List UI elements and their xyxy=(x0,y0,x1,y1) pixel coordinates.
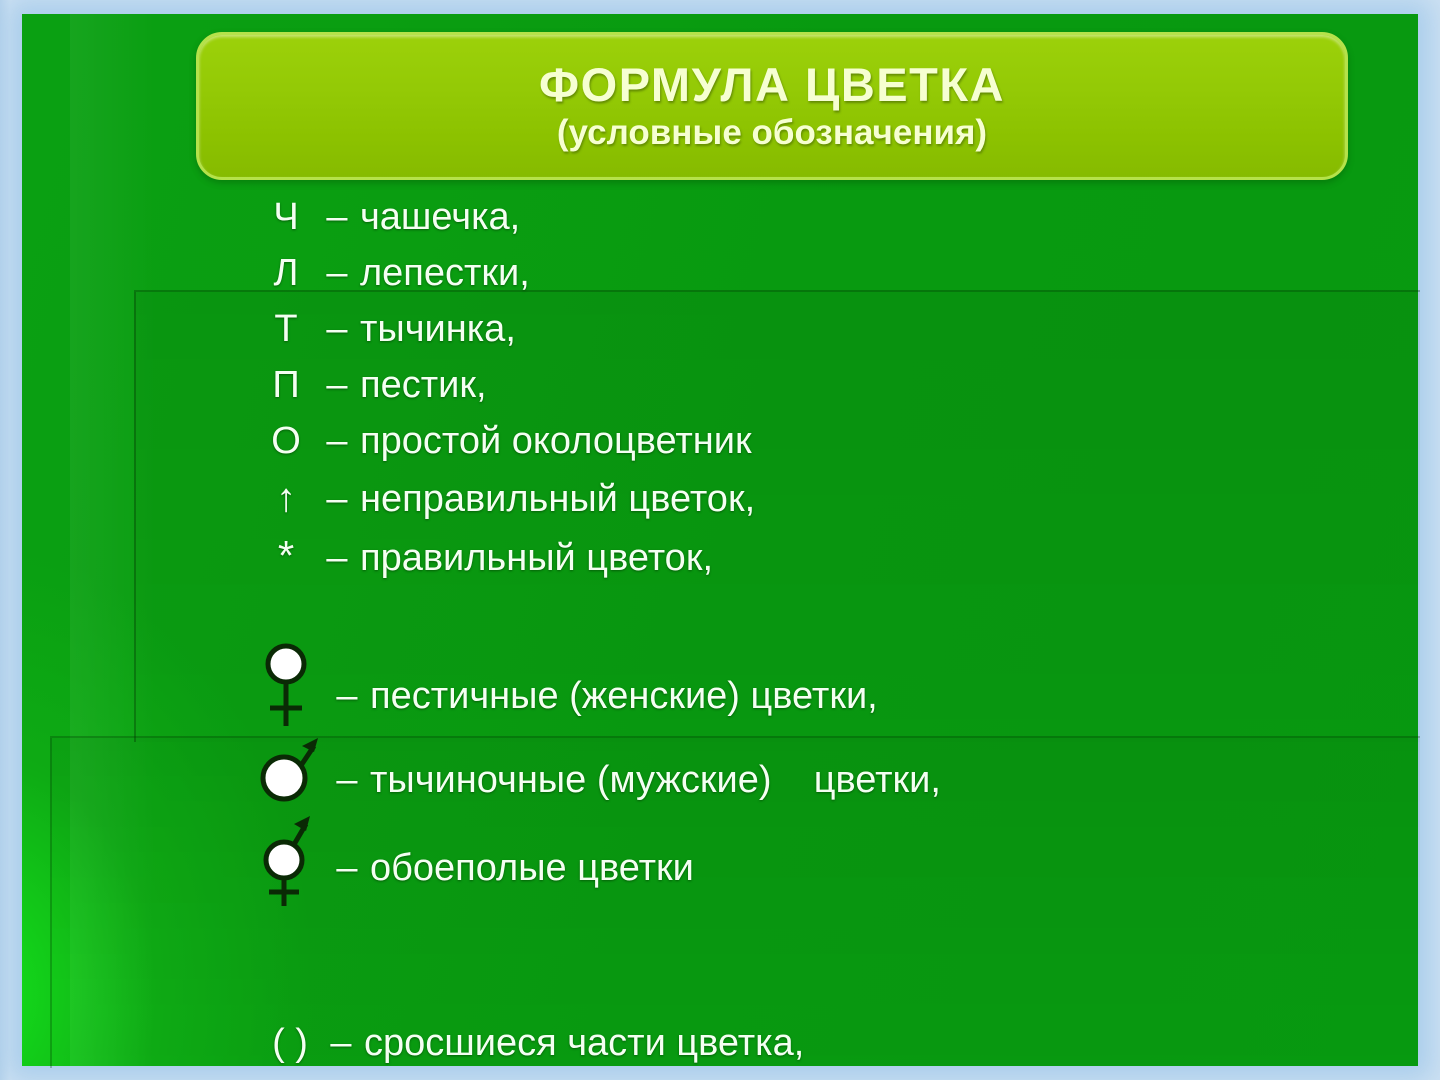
legend-symbol: Ч xyxy=(258,196,314,239)
legend-symbol: Т xyxy=(258,308,314,351)
legend-dash: – xyxy=(314,537,360,580)
gender-item-male: – тычиночные (мужские) цветки, xyxy=(252,742,1352,818)
legend-item-tychinka: Т – тычинка, xyxy=(258,308,1358,364)
legend-dash: – xyxy=(314,196,360,239)
page-title: ФОРМУЛА ЦВЕТКА xyxy=(539,60,1005,109)
gender-text-female: – пестичные (женские) цветки, xyxy=(324,675,878,718)
gender-item-female: – пестичные (женские) цветки, xyxy=(252,650,1352,742)
legend-dash: – xyxy=(314,478,360,521)
legend-symbol: П xyxy=(258,364,314,407)
legend-dash: – xyxy=(314,420,360,463)
parentheses-symbol: ( ) xyxy=(262,1022,318,1065)
legend-dash: – xyxy=(314,364,360,407)
gender-text-male: – тычиночные (мужские) цветки, xyxy=(324,759,941,802)
legend-item-lepestki: Л – лепестки, xyxy=(258,252,1358,308)
up-arrow-icon: ↑ xyxy=(258,476,314,521)
gender-label: пестичные (женские) цветки, xyxy=(370,675,878,718)
slide-canvas: ФОРМУЛА ЦВЕТКА (условные обозначения) Ч … xyxy=(0,0,1440,1080)
legend-item-irregular-flower: ↑ – неправильный цветок, xyxy=(258,476,1358,532)
legend-symbol: О xyxy=(258,420,314,463)
gender-symbol-list: – пестичные (женские) цветки, – тычиночн… xyxy=(252,650,1352,918)
legend-label: тычинка, xyxy=(360,308,516,351)
legend-label: чашечка, xyxy=(360,196,520,239)
legend-symbol: Л xyxy=(258,252,314,295)
legend-dash: – xyxy=(314,308,360,351)
legend-dash: – xyxy=(314,252,360,295)
legend-item-chashechka: Ч – чашечка, xyxy=(258,196,1358,252)
asterisk-icon: * xyxy=(258,532,314,580)
legend-item-okolotsvetnik: О – простой околоцветник xyxy=(258,420,1358,476)
footer-notes: ( ) – сросшиеся части цветка, цифры – ко… xyxy=(262,936,1382,1080)
footer-dash: – xyxy=(318,1022,364,1065)
background-left-stripe xyxy=(70,14,156,1066)
legend-label: правильный цветок, xyxy=(360,537,713,580)
legend-label: простой околоцветник xyxy=(360,420,752,463)
footer-label: сросшиеся части цветка, xyxy=(364,1022,804,1065)
page-subtitle: (условные обозначения) xyxy=(557,115,987,152)
hermaphrodite-symbol-icon xyxy=(252,818,324,918)
legend-item-regular-flower: * – правильный цветок, xyxy=(258,532,1358,588)
legend-label: неправильный цветок, xyxy=(360,478,755,521)
gender-label: обоеполые цветки xyxy=(370,847,694,890)
gender-label: тычиночные (мужские) цветки, xyxy=(370,759,941,802)
legend-item-pestik: П – пестик, xyxy=(258,364,1358,420)
legend-list: Ч – чашечка, Л – лепестки, Т – тычинка, … xyxy=(258,196,1358,588)
title-banner: ФОРМУЛА ЦВЕТКА (условные обозначения) xyxy=(196,32,1348,180)
gender-text-hermaphrodite: – обоеполые цветки xyxy=(324,847,694,890)
mars-symbol-icon xyxy=(252,742,324,818)
legend-label: пестик, xyxy=(360,364,487,407)
footer-item-brackets: ( ) – сросшиеся части цветка, xyxy=(262,1022,1382,1080)
gender-item-hermaphrodite: – обоеполые цветки xyxy=(252,818,1352,918)
venus-symbol-icon xyxy=(252,650,324,742)
legend-label: лепестки, xyxy=(360,252,530,295)
